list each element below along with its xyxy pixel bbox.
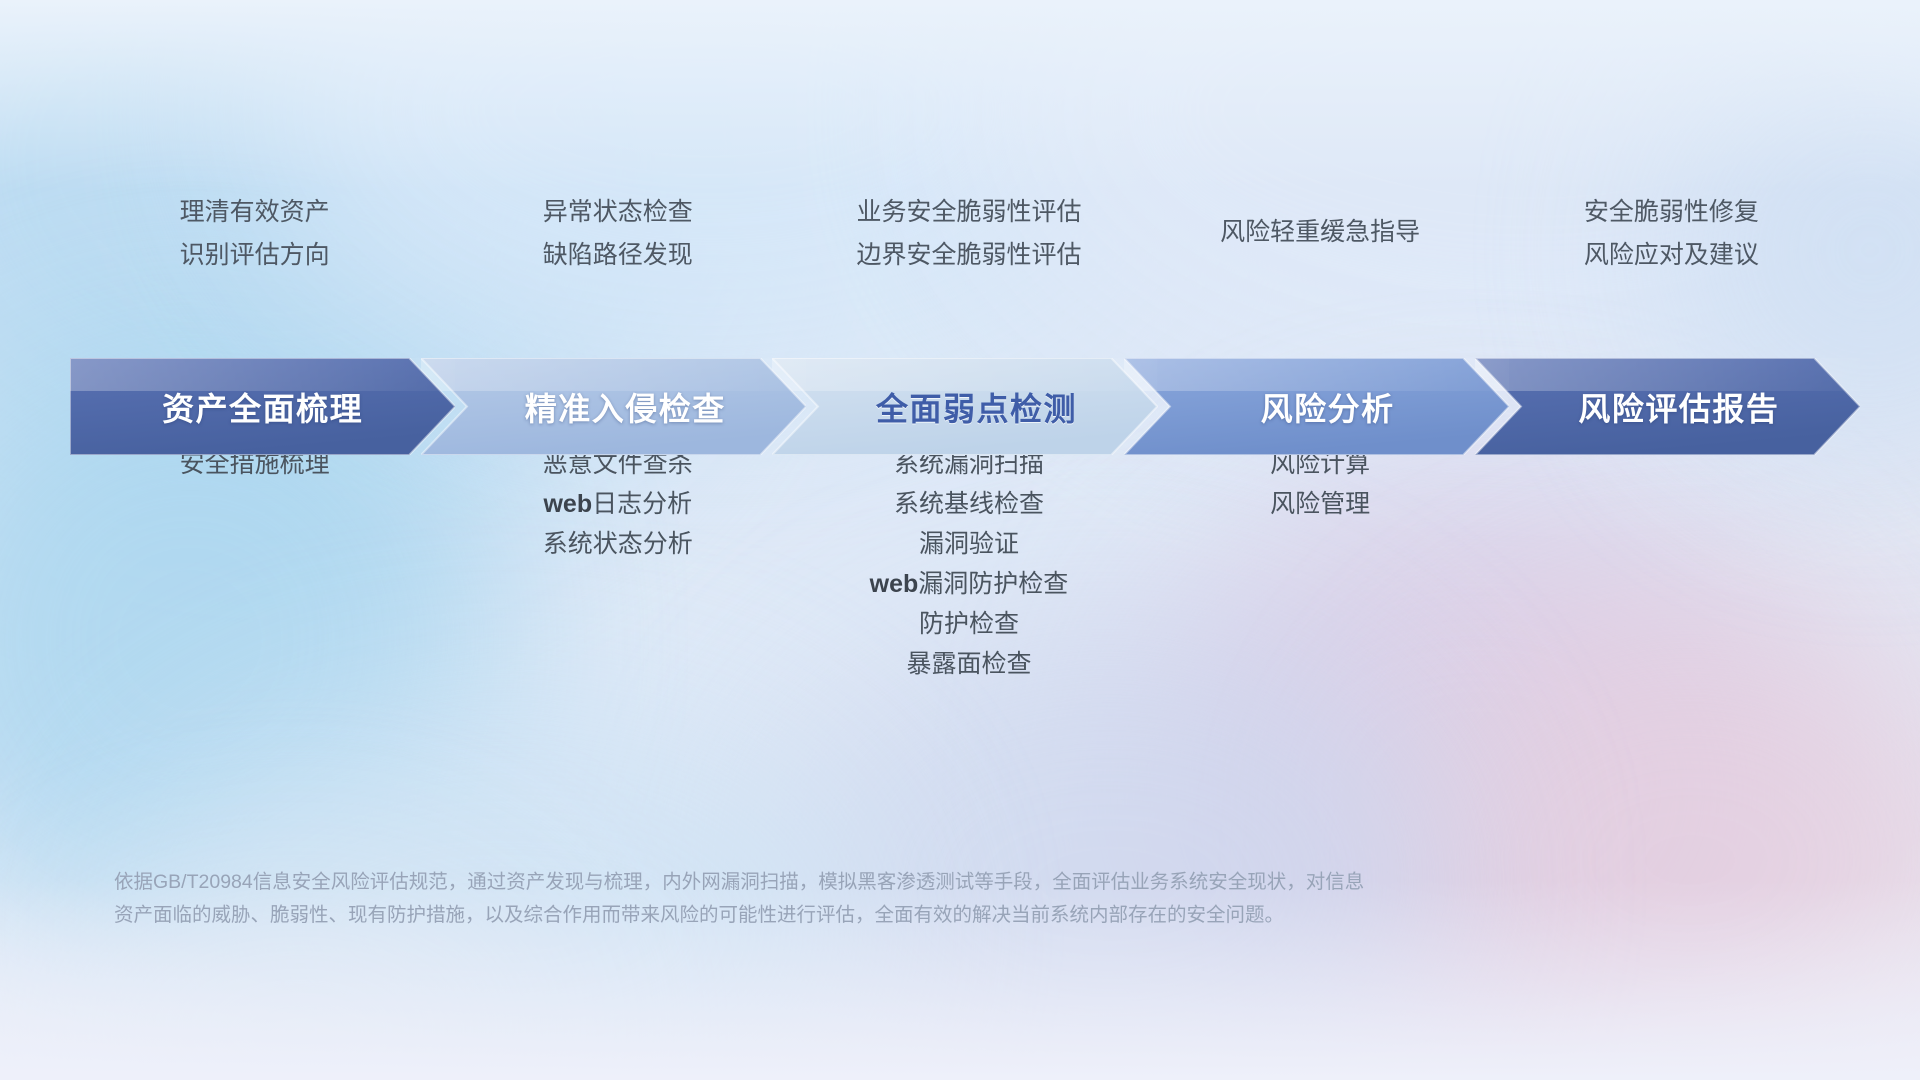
footer-description: 依据GB/T20984信息安全风险评估规范，通过资产发现与梳理，内外网漏洞扫描，…: [114, 866, 1674, 932]
stage-3-below-item-7: 暴露面检查: [719, 652, 1219, 677]
stage-5-title: 风险评估报告: [1555, 384, 1779, 430]
process-stage-3[interactable]: 全面弱点检测: [772, 358, 1157, 455]
stage-1-title: 资产全面梳理: [162, 384, 363, 430]
process-stage-4[interactable]: 风险分析: [1124, 358, 1509, 455]
stage-5-above-item-2: 风险应对及建议: [1421, 243, 1920, 268]
process-arrow-band: 资产全面梳理 精准入侵检查: [70, 358, 1860, 455]
stage-4-below-item-3: 风险管理: [1070, 492, 1570, 517]
stage-5-above-list: 安全脆弱性修复风险应对及建议: [1421, 200, 1920, 268]
stage-2-title: 精准入侵检查: [502, 384, 726, 430]
process-stage-5[interactable]: 风险评估报告: [1475, 358, 1860, 455]
footer-line-1: 依据GB/T20984信息安全风险评估规范，通过资产发现与梳理，内外网漏洞扫描，…: [114, 871, 1364, 893]
stage-3-title: 全面弱点检测: [853, 384, 1077, 430]
stage-3-below-item-4: 漏洞验证: [719, 532, 1219, 557]
stage-5-above-item-1: 安全脆弱性修复: [1421, 200, 1920, 225]
stage-4-title: 风险分析: [1238, 384, 1395, 430]
stage-3-below-item-5: web漏洞防护检查: [719, 572, 1219, 597]
stage-3-below-item-6: 防护检查: [719, 612, 1219, 637]
process-stage-2[interactable]: 精准入侵检查: [421, 358, 806, 455]
footer-line-2: 资产面临的威胁、脆弱性、现有防护措施，以及综合作用而带来风险的可能性进行评估，全…: [114, 899, 1674, 932]
stage-4-below-item-2: 风险计算: [1070, 452, 1570, 477]
process-stage-1[interactable]: 资产全面梳理: [70, 358, 455, 455]
stage-3-above-item-2: 边界安全脆弱性评估: [719, 243, 1219, 268]
above-arrow-text-row: 理清有效资产识别评估方向异常状态检查缺陷路径发现业务安全脆弱性评估边界安全脆弱性…: [0, 180, 1920, 290]
